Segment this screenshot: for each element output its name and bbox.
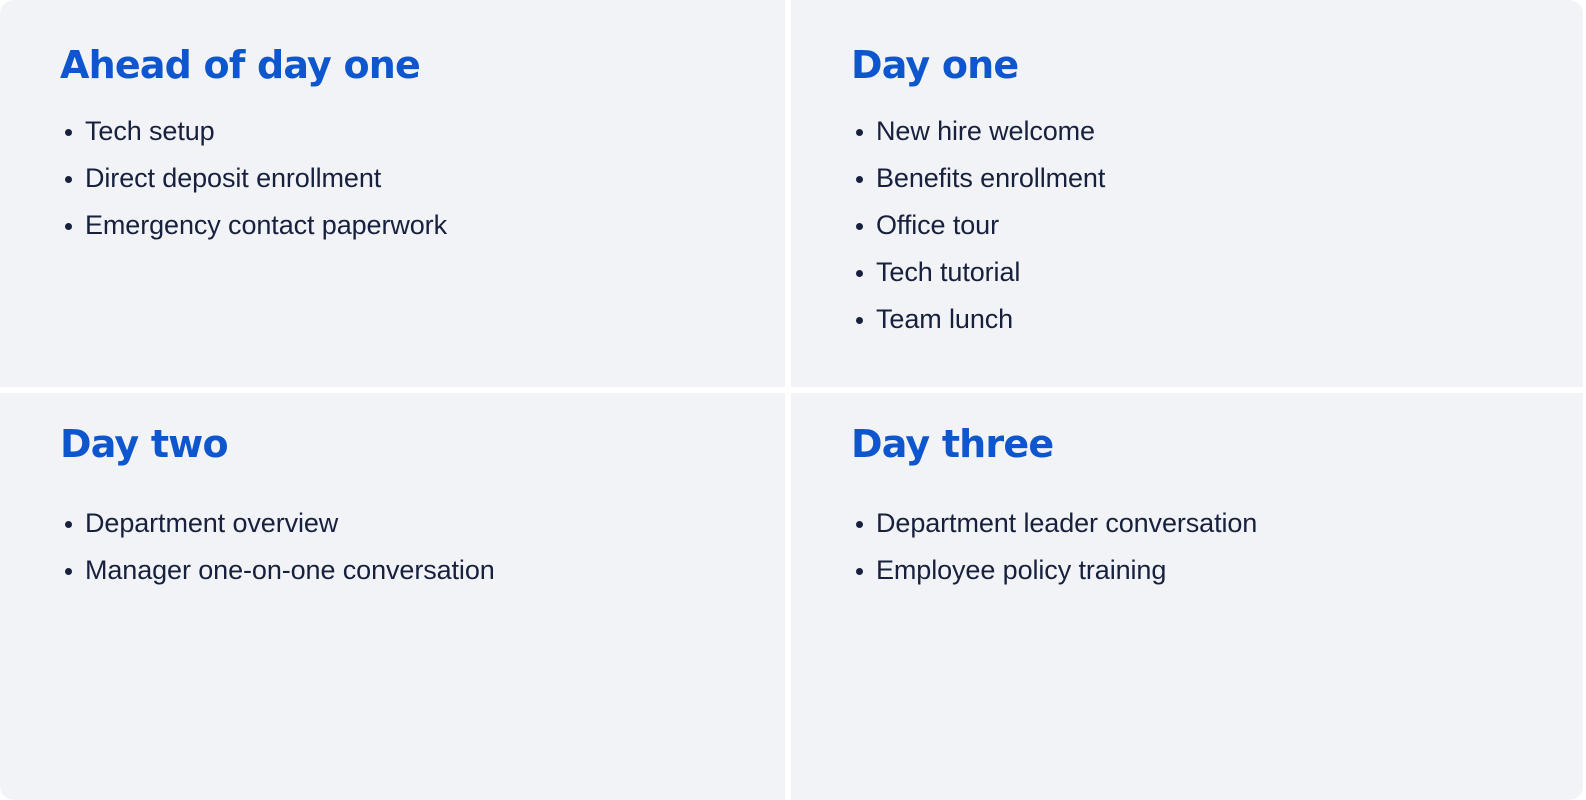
list-item-label: Emergency contact paperwork	[85, 210, 447, 240]
bullet-icon	[65, 568, 72, 575]
onboarding-timeline-board: Ahead of day one Tech setup Direct depos…	[0, 0, 1586, 800]
list-item: Employee policy training	[851, 547, 1559, 594]
list-item-label: Department leader conversation	[876, 508, 1257, 538]
list-item-label: Employee policy training	[876, 555, 1166, 585]
list-item-label: Department overview	[85, 508, 338, 538]
card-cell-day-one: Day one New hire welcome Benefits enroll…	[791, 0, 1586, 393]
bullet-icon	[65, 129, 72, 136]
bullet-icon	[856, 223, 863, 230]
list-item: Department leader conversation	[851, 500, 1559, 547]
card-title-day-three: Day three	[851, 421, 1559, 467]
card-day-two: Day two Department overview Manager one-…	[0, 393, 785, 800]
card-cell-day-two: Day two Department overview Manager one-…	[0, 393, 791, 800]
card-day-three: Day three Department leader conversation…	[791, 393, 1583, 800]
list-item-label: Tech setup	[85, 116, 215, 146]
bullet-icon	[856, 521, 863, 528]
card-content-day-two: Day two Department overview Manager one-…	[60, 421, 761, 594]
list-item: Team lunch	[851, 296, 1559, 343]
card-ahead-of-day-one: Ahead of day one Tech setup Direct depos…	[0, 0, 785, 387]
list-item: Tech tutorial	[851, 249, 1559, 296]
card-content-day-one: Day one New hire welcome Benefits enroll…	[851, 42, 1559, 343]
list-item: Office tour	[851, 202, 1559, 249]
card-list-day-three: Department leader conversation Employee …	[851, 500, 1559, 594]
card-cell-ahead-of-day-one: Ahead of day one Tech setup Direct depos…	[0, 0, 791, 393]
card-title-ahead-of-day-one: Ahead of day one	[60, 42, 761, 88]
bullet-icon	[856, 176, 863, 183]
list-item-label: Manager one-on-one conversation	[85, 555, 495, 585]
bullet-icon	[856, 129, 863, 136]
list-item: Emergency contact paperwork	[60, 202, 761, 249]
card-day-one: Day one New hire welcome Benefits enroll…	[791, 0, 1583, 387]
card-content-day-three: Day three Department leader conversation…	[851, 421, 1559, 594]
card-cell-day-three: Day three Department leader conversation…	[791, 393, 1586, 800]
list-item-label: Direct deposit enrollment	[85, 163, 381, 193]
list-item-label: Team lunch	[876, 304, 1013, 334]
card-list-ahead-of-day-one: Tech setup Direct deposit enrollment Eme…	[60, 108, 761, 249]
list-item-label: Tech tutorial	[876, 257, 1020, 287]
list-item: New hire welcome	[851, 108, 1559, 155]
bullet-icon	[856, 568, 863, 575]
bullet-icon	[856, 270, 863, 277]
list-item-label: Office tour	[876, 210, 999, 240]
list-item: Direct deposit enrollment	[60, 155, 761, 202]
list-item-label: Benefits enrollment	[876, 163, 1105, 193]
card-content-ahead-of-day-one: Ahead of day one Tech setup Direct depos…	[60, 42, 761, 249]
list-item: Manager one-on-one conversation	[60, 547, 761, 594]
bullet-icon	[65, 223, 72, 230]
bullet-icon	[65, 176, 72, 183]
card-list-day-one: New hire welcome Benefits enrollment Off…	[851, 108, 1559, 343]
bullet-icon	[65, 521, 72, 528]
card-title-day-one: Day one	[851, 42, 1559, 88]
list-item-label: New hire welcome	[876, 116, 1095, 146]
list-item: Benefits enrollment	[851, 155, 1559, 202]
list-item: Department overview	[60, 500, 761, 547]
bullet-icon	[856, 317, 863, 324]
card-list-day-two: Department overview Manager one-on-one c…	[60, 500, 761, 594]
list-item: Tech setup	[60, 108, 761, 155]
card-title-day-two: Day two	[60, 421, 761, 467]
